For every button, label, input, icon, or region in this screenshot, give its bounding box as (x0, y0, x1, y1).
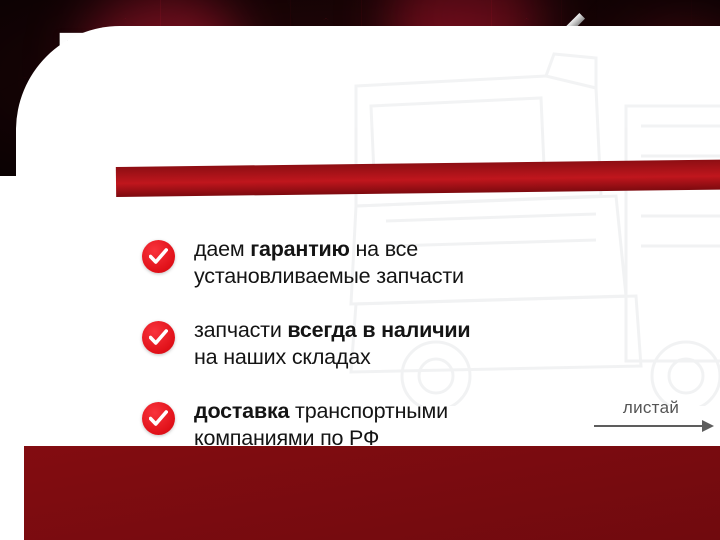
check-circle-icon (142, 402, 175, 435)
list-item-label: даем гарантию на всеустановливаемые запч… (194, 236, 464, 290)
list-item: даем гарантию на всеустановливаемые запч… (142, 236, 572, 290)
arrow-right-icon (594, 420, 720, 432)
swipe-hint-label: листай (594, 398, 720, 418)
card-surface: даем гарантию на всеустановливаемые запч… (16, 26, 720, 446)
check-circle-icon (142, 240, 175, 273)
list-item-label: запчасти всегда в наличиина наших склада… (194, 317, 470, 371)
promo-slide: ПОЧЕМУ МЫ? VOLVO (0, 0, 720, 540)
list-item: доставка транспортнымикомпаниями по РФ (142, 398, 572, 446)
swipe-hint: листай (594, 398, 720, 432)
list-item-label: доставка транспортнымикомпаниями по РФ (194, 398, 448, 446)
list-item: запчасти всегда в наличиина наших склада… (142, 317, 572, 371)
benefit-list: даем гарантию на всеустановливаемые запч… (142, 236, 572, 446)
check-circle-icon (142, 321, 175, 354)
